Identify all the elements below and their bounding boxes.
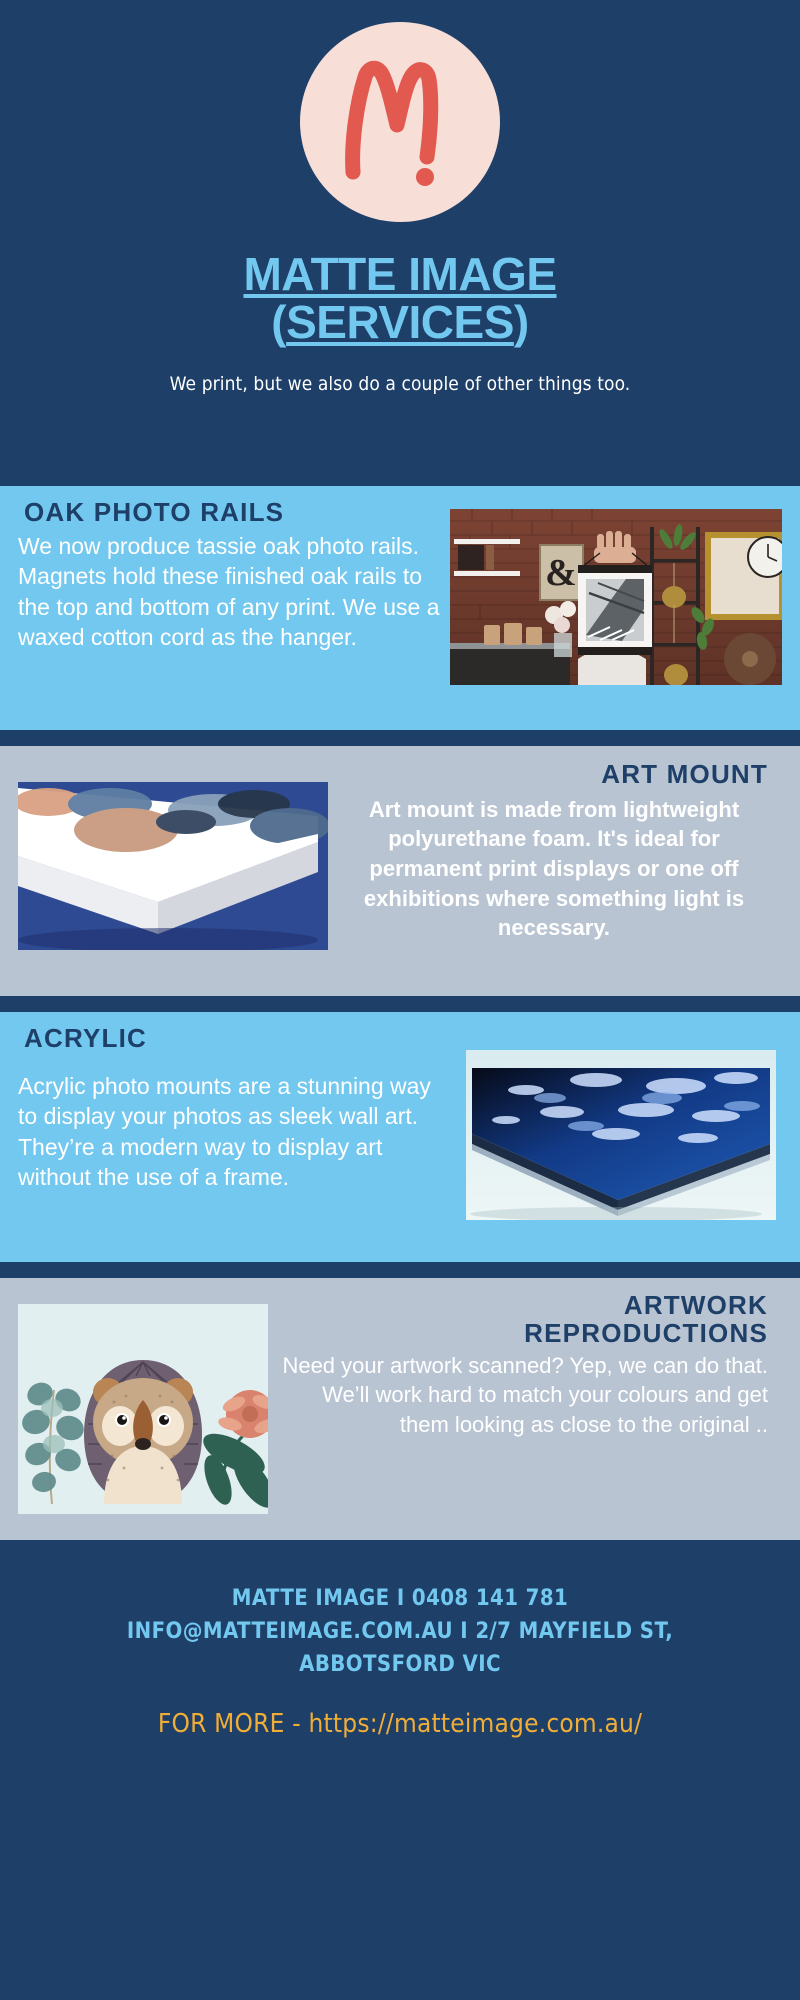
paren-close: ) xyxy=(514,296,529,348)
art-mount-heading: ART MOUNT xyxy=(340,760,768,789)
artwork-reproductions-body: Need your artwork scanned? Yep, we can d… xyxy=(282,1351,768,1439)
logo-m-icon xyxy=(335,47,465,197)
divider-2 xyxy=(0,730,800,746)
footer-line-1: MATTE IMAGE I 0408 141 781 xyxy=(0,1582,800,1615)
infographic-poster: MATTE IMAGE (SERVICES) We print, but we … xyxy=(0,0,800,2000)
footer: MATTE IMAGE I 0408 141 781 INFO@MATTEIMA… xyxy=(0,1540,800,1800)
divider-1 xyxy=(0,470,800,486)
oak-photo-rails-body: We now produce tassie oak photo rails. M… xyxy=(18,531,445,653)
svg-text:&: & xyxy=(545,552,577,594)
footer-contact: MATTE IMAGE I 0408 141 781 INFO@MATTEIMA… xyxy=(0,1582,800,1681)
acrylic-body: Acrylic photo mounts are a stunning way … xyxy=(18,1071,450,1193)
header: MATTE IMAGE (SERVICES) We print, but we … xyxy=(0,0,800,470)
divider-4 xyxy=(0,1262,800,1278)
for-more-separator: - xyxy=(292,1709,301,1739)
footer-line-2: INFO@MATTEIMAGE.COM.AU I 2/7 MAYFIELD ST… xyxy=(0,1615,800,1648)
section-art-mount: ART MOUNT Art mount is made from lightwe… xyxy=(0,746,800,996)
artwork-reproductions-heading: ARTWORK REPRODUCTIONS xyxy=(282,1292,768,1347)
acrylic-text-column: ACRYLIC Acrylic photo mounts are a stunn… xyxy=(0,1012,460,1262)
artwork-reproductions-heading-line1: ARTWORK xyxy=(282,1292,768,1320)
artwork-reproductions-text-column: ARTWORK REPRODUCTIONS Need your artwork … xyxy=(276,1278,786,1540)
oak-photo-rails-text-column: OAK PHOTO RAILS We now produce tassie oa… xyxy=(0,486,455,730)
art-mount-image xyxy=(18,782,328,950)
acrylic-image xyxy=(466,1050,776,1220)
divider-3 xyxy=(0,996,800,1012)
section-artwork-reproductions: ARTWORK REPRODUCTIONS Need your artwork … xyxy=(0,1278,800,1540)
brand-title-line1: MATTE IMAGE xyxy=(243,248,556,300)
brand-title-line2: (SERVICES) xyxy=(243,298,556,346)
for-more-label: FOR MORE xyxy=(158,1709,285,1739)
brand-title-services: SERVICES xyxy=(286,296,514,348)
artwork-reproductions-image xyxy=(18,1304,268,1514)
paren-open: ( xyxy=(271,296,286,348)
art-mount-body: Art mount is made from lightweight polyu… xyxy=(340,795,768,943)
watercolour-hedgehog-illustration xyxy=(18,1304,268,1514)
foam-board-corner-illustration xyxy=(18,782,328,950)
oak-photo-rails-image: & xyxy=(450,509,782,685)
page-title: MATTE IMAGE (SERVICES) xyxy=(243,250,556,347)
website-url[interactable]: https://matteimage.com.au/ xyxy=(309,1709,643,1739)
section-oak-photo-rails: OAK PHOTO RAILS We now produce tassie oa… xyxy=(0,486,800,730)
logo xyxy=(300,22,500,222)
footer-line-3: ABBOTSFORD VIC xyxy=(0,1648,800,1681)
acrylic-mount-corner-illustration xyxy=(466,1050,776,1220)
tagline: We print, but we also do a couple of oth… xyxy=(170,373,631,395)
oak-photo-rails-heading: OAK PHOTO RAILS xyxy=(24,498,445,527)
art-mount-text-column: ART MOUNT Art mount is made from lightwe… xyxy=(334,746,786,996)
artwork-reproductions-heading-line2: REPRODUCTIONS xyxy=(282,1320,768,1348)
section-acrylic: ACRYLIC Acrylic photo mounts are a stunn… xyxy=(0,1012,800,1262)
acrylic-heading: ACRYLIC xyxy=(24,1024,450,1053)
brick-wall-scene-illustration: & xyxy=(450,509,782,685)
footer-for-more: FOR MORE - https://matteimage.com.au/ xyxy=(0,1709,800,1739)
